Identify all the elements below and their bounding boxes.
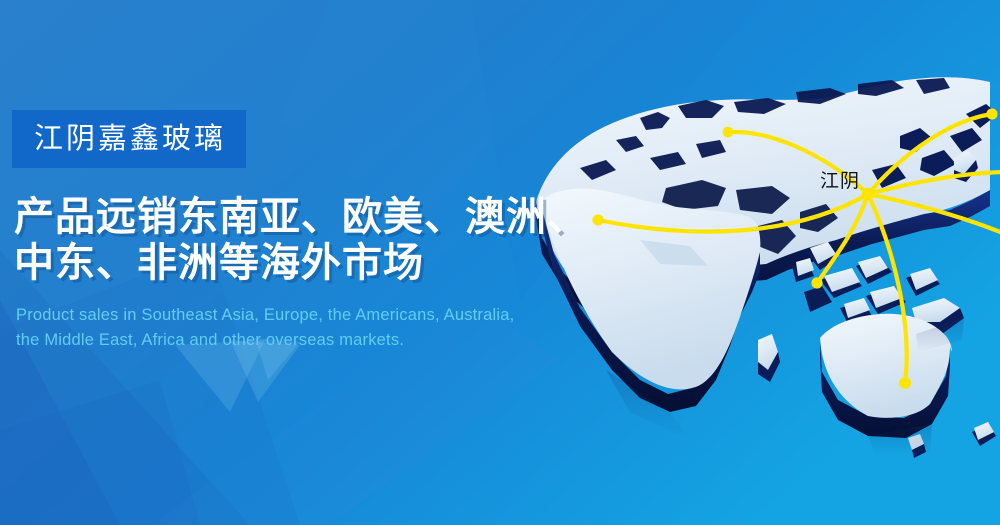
subheadline-line-1: Product sales in Southeast Asia, Europe,…	[16, 303, 572, 328]
node-hub-jiangyin	[862, 188, 874, 200]
node-australia	[899, 377, 911, 389]
node-northern-europe	[723, 127, 734, 138]
headline-line-2: 中东、非洲等海外市场	[14, 240, 572, 286]
node-southeast-asia	[811, 277, 822, 288]
copy-block: 江阴嘉鑫玻璃 产品远销东南亚、欧美、澳洲、 中东、非洲等海外市场 Product…	[12, 110, 572, 352]
hub-city-label: 江阴	[820, 166, 860, 193]
node-west-africa	[592, 214, 603, 225]
subheadline: Product sales in Southeast Asia, Europe,…	[16, 303, 572, 353]
headline-line-1: 产品远销东南亚、欧美、澳洲、	[14, 194, 572, 240]
headline: 产品远销东南亚、欧美、澳洲、 中东、非洲等海外市场	[14, 194, 572, 287]
node-far-east	[986, 108, 997, 119]
world-map	[520, 40, 1000, 460]
brand-badge: 江阴嘉鑫玻璃	[12, 110, 246, 168]
promo-banner: 江阴 江阴嘉鑫玻璃 产品远销东南亚、欧美、澳洲、 中东、非洲等海外市场 Prod…	[0, 0, 1000, 525]
world-map-svg	[520, 40, 1000, 460]
subheadline-line-2: the Middle East, Africa and other overse…	[16, 328, 572, 353]
